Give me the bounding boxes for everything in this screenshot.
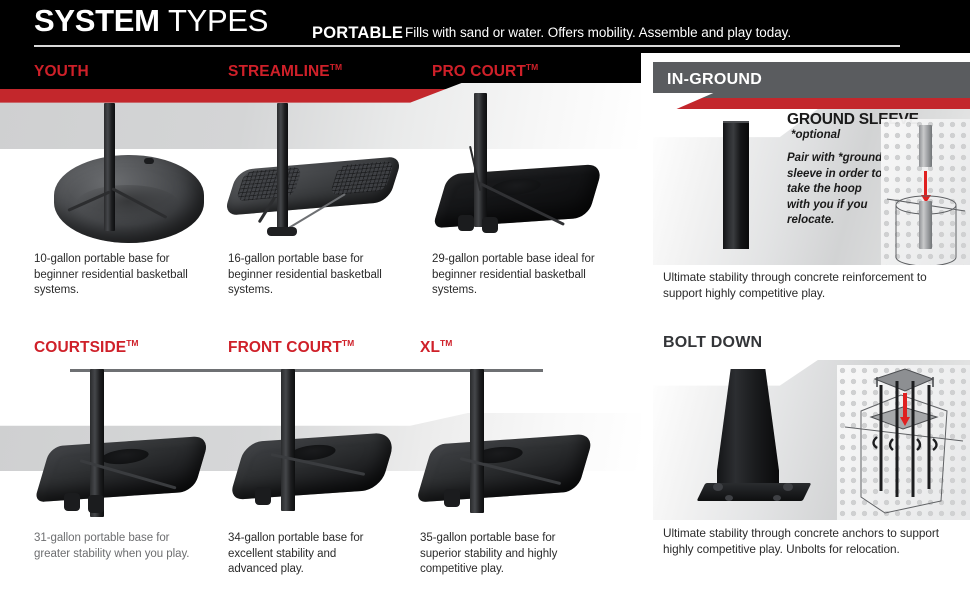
product-label-front-court: FRONT COURTTM <box>228 338 354 357</box>
inground-section: IN-GROUND GROUND SLEEVE *optional Pair w… <box>641 53 970 600</box>
courtside-portable-base-image <box>14 365 214 525</box>
product-label-text: FRONT COURT <box>228 339 342 356</box>
youth-portable-base-image <box>16 91 211 246</box>
trademark-mark: TM <box>330 62 342 72</box>
portable-section: YOUTH STREAMLINETM PRO COURTTM <box>0 53 641 600</box>
ground-sleeve-body-text: Pair with *ground sleeve in order to tak… <box>787 151 883 229</box>
product-label-text: PRO COURT <box>432 63 526 80</box>
product-label-xl: XLTM <box>420 338 452 357</box>
bolt-down-caption: Ultimate stability through concrete anch… <box>663 525 945 557</box>
front-court-portable-base-image <box>215 365 415 525</box>
product-label-courtside: COURTSIDETM <box>34 338 138 357</box>
product-caption-youth: 10-gallon portable base for beginner res… <box>34 252 194 299</box>
inground-banner-title: IN-GROUND <box>667 71 762 89</box>
product-label-text: STREAMLINE <box>228 63 330 80</box>
product-caption-courtside: 31-gallon portable base for greater stab… <box>34 531 204 562</box>
page-title-bold: SYSTEM <box>34 3 160 38</box>
page-header-bar: SYSTEM TYPES PORTABLE Fills with sand or… <box>0 0 970 53</box>
bolt-down-title: BOLT DOWN <box>663 334 762 352</box>
ground-sleeve-post-image <box>701 115 791 255</box>
product-caption-front-court: 34-gallon portable base for excellent st… <box>228 531 388 578</box>
pro-court-portable-base-image <box>420 91 620 246</box>
product-caption-streamline: 16-gallon portable base for beginner res… <box>228 252 388 299</box>
product-label-pro-court: PRO COURTTM <box>432 62 538 81</box>
product-caption-pro-court: 29-gallon portable base ideal for beginn… <box>432 252 600 299</box>
system-types-infographic: SYSTEM TYPES PORTABLE Fills with sand or… <box>0 0 970 600</box>
trademark-mark: TM <box>342 338 354 348</box>
xl-portable-base-image <box>408 365 608 525</box>
product-label-text: XL <box>420 339 440 356</box>
product-label-text: COURTSIDE <box>34 339 126 356</box>
trademark-mark: TM <box>526 62 538 72</box>
inground-caption: Ultimate stability through concrete rein… <box>663 269 939 301</box>
product-label-streamline: STREAMLINETM <box>228 62 342 81</box>
trademark-mark: TM <box>126 338 138 348</box>
page-title-light: TYPES <box>168 3 268 38</box>
streamline-portable-base-image <box>215 91 415 246</box>
ground-sleeve-insertion-diagram <box>881 119 970 265</box>
header-divider <box>34 45 900 47</box>
product-label-youth: YOUTH <box>34 62 89 81</box>
bolt-down-anchor-diagram <box>837 365 970 520</box>
page-title: SYSTEM TYPES <box>34 4 268 37</box>
product-caption-xl: 35-gallon portable base for superior sta… <box>420 531 580 578</box>
category-label-portable: PORTABLE <box>312 24 403 43</box>
trademark-mark: TM <box>440 338 452 348</box>
ground-sleeve-optional-note: *optional <box>791 129 840 141</box>
anchor-wireframe <box>837 365 970 520</box>
product-label-text: YOUTH <box>34 63 89 80</box>
category-description: Fills with sand or water. Offers mobilit… <box>405 25 791 40</box>
bolt-down-post-image <box>691 365 831 513</box>
